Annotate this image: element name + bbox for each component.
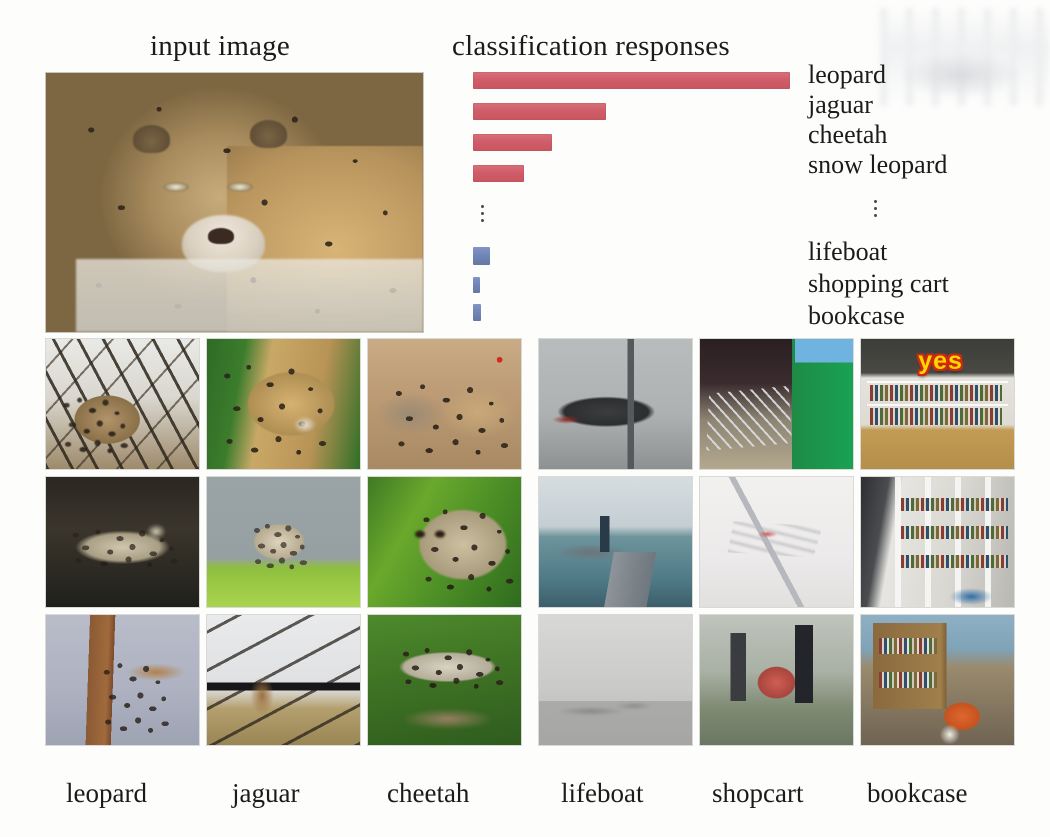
- grid-cell-shopcart-2: [699, 476, 854, 608]
- classification-bar-chart: [473, 66, 813, 321]
- right-image-grid: yes: [538, 338, 1015, 768]
- grid-cell-cheetah-3: [367, 614, 522, 746]
- legend-label-jaguar: jaguar: [808, 90, 1043, 120]
- input-image-title: input image: [150, 30, 290, 63]
- grid-cell-cheetah-1: [367, 338, 522, 470]
- bottom-label-shopcart: shopcart: [712, 778, 803, 809]
- grid-cell-leopard-3: [45, 614, 200, 746]
- grid-cell-lifeboat-3: [538, 614, 693, 746]
- bar-jaguar: [473, 103, 606, 120]
- bottom-label-jaguar: jaguar: [232, 778, 299, 809]
- grid-cell-bookcase-2: [860, 476, 1015, 608]
- bottom-label-lifeboat: lifeboat: [561, 778, 643, 809]
- left-image-grid: [45, 338, 522, 768]
- chart-vertical-ellipsis: [481, 205, 484, 226]
- grid-cell-lifeboat-2: [538, 476, 693, 608]
- bar-leopard: [473, 72, 790, 89]
- grid-cell-shopcart-1: [699, 338, 854, 470]
- grid-cell-lifeboat-1: [538, 338, 693, 470]
- legend-label-lifeboat: lifeboat: [808, 236, 1048, 268]
- legend-label-shopping-cart: shopping cart: [808, 268, 1048, 300]
- input-image-photo: [45, 72, 424, 333]
- grid-cell-shopcart-3: [699, 614, 854, 746]
- bar-cheetah: [473, 134, 552, 151]
- bottom-label-cheetah: cheetah: [387, 778, 469, 809]
- legend-label-snow-leopard: snow leopard: [808, 150, 1043, 180]
- bar-bookcase: [473, 304, 481, 321]
- figure-root: input image classification responses leo…: [0, 0, 1050, 837]
- grid-cell-jaguar-3: [206, 614, 361, 746]
- yes-overlay-text: yes: [918, 347, 963, 376]
- bar-snow-leopard: [473, 165, 524, 182]
- grid-cell-bookcase-3: [860, 614, 1015, 746]
- grid-cell-leopard-1: [45, 338, 200, 470]
- chart-legend-top: leopard jaguar cheetah snow leopard: [808, 60, 1043, 180]
- legend-vertical-ellipsis: [874, 200, 877, 221]
- bottom-label-bookcase: bookcase: [867, 778, 967, 809]
- bar-lifeboat: [473, 247, 490, 265]
- grid-cell-bookcase-1: yes: [860, 338, 1015, 470]
- grid-cell-leopard-2: [45, 476, 200, 608]
- bottom-label-leopard: leopard: [66, 778, 147, 809]
- grid-cell-cheetah-2: [367, 476, 522, 608]
- chart-legend-bottom: lifeboat shopping cart bookcase: [808, 236, 1048, 332]
- grid-cell-jaguar-2: [206, 476, 361, 608]
- legend-label-bookcase: bookcase: [808, 300, 1048, 332]
- grid-cell-jaguar-1: [206, 338, 361, 470]
- legend-label-leopard: leopard: [808, 60, 1043, 90]
- classification-responses-title: classification responses: [452, 30, 730, 63]
- bar-shopping-cart: [473, 277, 480, 293]
- legend-label-cheetah: cheetah: [808, 120, 1043, 150]
